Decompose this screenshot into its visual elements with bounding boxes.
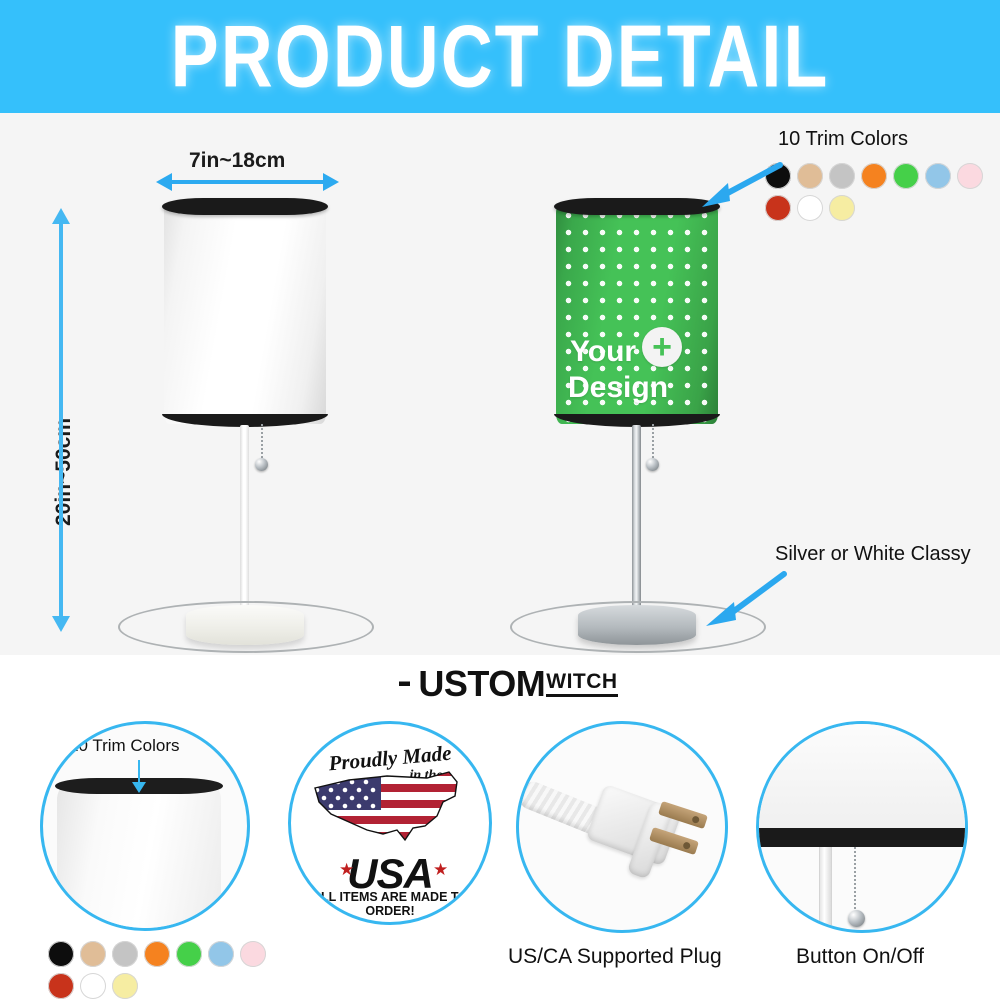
swatch-gray[interactable] [829, 163, 855, 189]
bottom-swatch-blue[interactable] [208, 941, 234, 967]
height-measure-line [59, 223, 63, 617]
star-left-icon: ★ [339, 860, 354, 880]
design-text-line2: Design [568, 373, 668, 403]
width-arrow-right-icon [323, 173, 339, 191]
swatch-yellow[interactable] [829, 195, 855, 221]
bottom-swatch-red[interactable] [48, 973, 74, 999]
plug-prong-hole-top [691, 815, 700, 824]
lamp-silver-pull-ball[interactable] [646, 458, 659, 471]
width-measure-line [170, 180, 325, 184]
height-measure-label: 20in~50cm [52, 418, 76, 526]
trim-colors-callout-label: 10 Trim Colors [778, 128, 908, 151]
mini-shade-body [57, 786, 221, 931]
logo-underline [546, 694, 617, 697]
lamp-white-pull-chain[interactable] [261, 424, 263, 461]
lamp-silver-shade: Your + Design [556, 203, 718, 424]
page-title: PRODUCT DETAIL [171, 6, 830, 106]
header-banner: PRODUCT DETAIL [0, 0, 1000, 113]
bottom-swatch-tan[interactable] [80, 941, 106, 967]
lamp-white-shade [164, 203, 326, 424]
bottom-swatch-grid [48, 941, 288, 999]
feature-button-circle [756, 721, 968, 933]
star-right-icon: ★ [433, 860, 448, 880]
width-arrow-left-icon [156, 173, 172, 191]
feature-trim-colors-label: 10 Trim Colors [69, 736, 180, 756]
trim-colors-swatch-grid [765, 163, 1000, 221]
height-arrow-up-icon [52, 208, 70, 224]
logo-witch-wrap: WITCH [546, 671, 617, 697]
swatch-white[interactable] [797, 195, 823, 221]
logo-witch-text: WITCH [546, 671, 617, 692]
lamp-white-pull-ball[interactable] [255, 458, 268, 471]
brand-logo: USTOM WITCH [0, 655, 1000, 713]
logo-custom-text: USTOM [418, 663, 545, 705]
button-circle-trim [756, 828, 968, 847]
button-pull-ball[interactable] [848, 910, 865, 927]
feature-trim-colors-circle: 10 Trim Colors [40, 721, 250, 931]
main-stage: 7in~18cm 20in~50cm [0, 113, 1000, 710]
plus-icon: + [642, 327, 682, 367]
swatch-tan[interactable] [797, 163, 823, 189]
button-pull-chain[interactable] [854, 847, 856, 913]
width-measure-label: 7in~18cm [189, 149, 285, 173]
swatch-orange[interactable] [861, 163, 887, 189]
product-detail-page: PRODUCT DETAIL 7in~18cm 20in~50cm [0, 0, 1000, 1000]
lamp-white-pole [240, 425, 249, 612]
base-finish-arrow-icon [700, 568, 790, 628]
feature-plug-circle [516, 721, 728, 933]
button-circle-shade [756, 721, 968, 834]
feature-plug-caption: US/CA Supported Plug [508, 945, 722, 969]
base-finish-callout-label: Silver or White Classy [775, 543, 971, 566]
feature-arrow-down-icon [132, 782, 146, 793]
lamp-white-trim-top [162, 198, 328, 215]
height-arrow-down-icon [52, 616, 70, 632]
bottom-swatch-white[interactable] [80, 973, 106, 999]
lamp-white-shade-body [164, 203, 326, 424]
bottom-swatch-green[interactable] [176, 941, 202, 967]
bottom-swatch-gray[interactable] [112, 941, 138, 967]
design-text-line1: Your [570, 337, 636, 367]
lamp-white-cord-loop [118, 601, 374, 653]
swatch-green[interactable] [893, 163, 919, 189]
plug-prong-hole-bottom [682, 841, 691, 850]
usa-badge-subtitle: ALL ITEMS ARE MADE TO ORDER! [291, 890, 489, 918]
button-circle-pole [819, 847, 832, 933]
swatch-blue[interactable] [925, 163, 951, 189]
moon-c-icon [382, 667, 416, 701]
usa-map-flag-icon [309, 768, 479, 860]
bottom-swatch-yellow[interactable] [112, 973, 138, 999]
usa-badge: Proudly Made in the [291, 724, 489, 922]
trim-colors-arrow-icon [694, 159, 784, 209]
lamp-silver-pull-chain[interactable] [652, 424, 654, 461]
feature-arrow-line [138, 760, 140, 784]
bottom-swatch-pink[interactable] [240, 941, 266, 967]
plus-glyph: + [652, 333, 672, 362]
feature-made-in-usa-circle: Proudly Made in the [288, 721, 492, 925]
lamp-silver-pole [632, 425, 641, 612]
feature-button-caption: Button On/Off [796, 945, 924, 969]
feature-row: 10 Trim Colors Proudly Made in the [0, 713, 1000, 1000]
bottom-swatch-orange[interactable] [144, 941, 170, 967]
bottom-swatch-black[interactable] [48, 941, 74, 967]
swatch-pink[interactable] [957, 163, 983, 189]
